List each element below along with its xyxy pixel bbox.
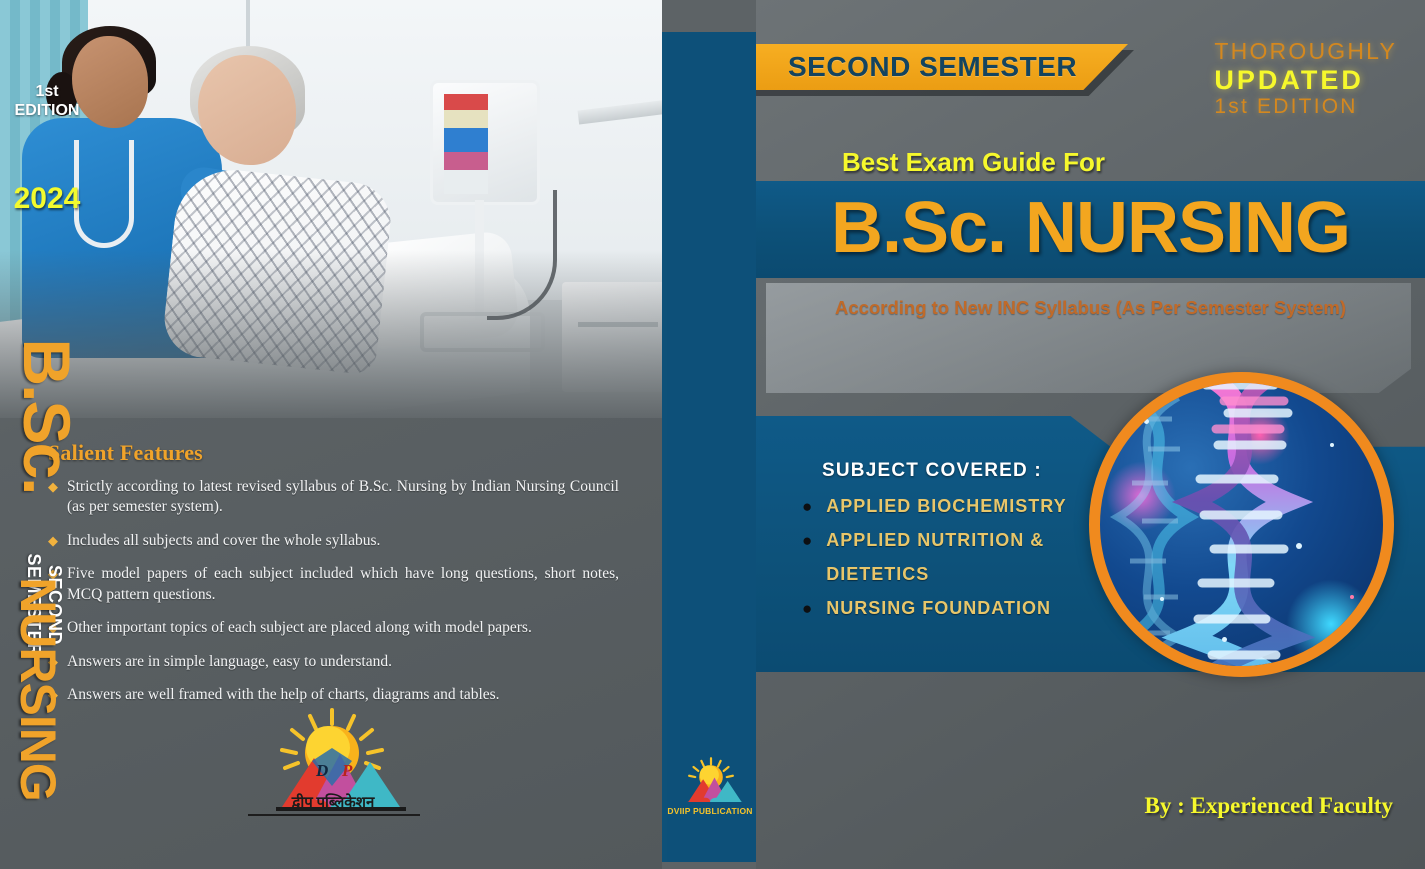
feature-text: Answers are well framed with the help of… [67, 685, 500, 705]
feature-item: ◆ Answers are in simple language, easy t… [48, 652, 638, 672]
book-spine [662, 0, 756, 869]
sparkle [1350, 595, 1354, 599]
feature-item: ◆ Answers are well framed with the help … [48, 685, 638, 705]
subject-list-item: ● APPLIED BIOCHEMISTRY [802, 492, 1132, 521]
syllabus-note: According to New INC Syllabus (As Per Se… [756, 297, 1425, 319]
spine-subtitle: NURSING [9, 539, 67, 839]
svg-text:P: P [341, 761, 353, 780]
dna-strand-primary [1158, 372, 1338, 677]
spine-background [667, 32, 756, 862]
monitor-screen [444, 94, 488, 194]
sparkle [1144, 419, 1149, 424]
spine-publisher-logo [676, 756, 746, 806]
feature-text: Five model papers of each subject includ… [67, 564, 619, 605]
sparkle [1296, 543, 1302, 549]
iv-pole [246, 0, 250, 48]
spine-edition-line1: 1st [0, 82, 94, 101]
book-cover-artwork: Salient Features ◆ Strictly according to… [0, 0, 1425, 869]
spine-edition: 1st EDITION [0, 82, 94, 120]
subject-label: NURSING FOUNDATION [826, 594, 1051, 623]
dna-helix-image [1089, 372, 1394, 677]
publisher-name-hindi: द्वीप पब्लिकेशन [250, 792, 416, 812]
feature-text: Answers are in simple language, easy to … [67, 652, 392, 672]
subject-list: ● APPLIED BIOCHEMISTRY ● APPLIED NUTRITI… [802, 492, 1132, 628]
thoroughly-label: THOROUGHLY [1214, 38, 1397, 65]
feature-text: Strictly according to latest revised syl… [67, 477, 619, 518]
hospital-photo [0, 0, 662, 418]
spine-title: B.Sc. [9, 281, 85, 551]
salient-features-title: Salient Features [48, 440, 638, 466]
updated-edition-block: THOROUGHLY UPDATED 1st EDITION [1214, 38, 1397, 119]
semester-banner: SECOND SEMESTER [756, 44, 1128, 90]
feature-text: Includes all subjects and cover the whol… [67, 531, 380, 551]
spine-year: 2024 [0, 182, 94, 216]
updated-label: UPDATED [1214, 65, 1397, 95]
sparkle [1222, 637, 1227, 642]
sparkle [1160, 597, 1164, 601]
subject-covered-title: SUBJECT COVERED : [822, 460, 1042, 482]
subject-label: APPLIED BIOCHEMISTRY [826, 492, 1066, 521]
publisher-logo-icon [676, 756, 746, 806]
feature-item: ◆ Includes all subjects and cover the wh… [48, 531, 638, 551]
first-edition-label: 1st EDITION [1214, 95, 1397, 119]
semester-banner-label: SECOND SEMESTER [756, 51, 1077, 83]
best-exam-guide-label: Best Exam Guide For [842, 147, 1105, 178]
bullet-icon: ● [802, 526, 812, 555]
subject-list-item: ● NURSING FOUNDATION [802, 594, 1132, 623]
subject-list-item-continuation: ● DIETETICS [802, 560, 1132, 589]
subject-label: APPLIED NUTRITION & [826, 526, 1044, 555]
byline: By : Experienced Faculty [1145, 793, 1394, 819]
bullet-icon: ● [802, 594, 812, 623]
spine-publisher-name: DVIIP PUBLICATION [666, 806, 754, 816]
feature-item: ◆ Five model papers of each subject incl… [48, 564, 638, 605]
svg-text:D: D [315, 761, 328, 780]
bullet-icon: ● [802, 492, 812, 521]
feature-item: ◆ Strictly according to latest revised s… [48, 477, 638, 518]
photo-fade-overlay [0, 250, 662, 418]
sparkle [1330, 443, 1334, 447]
spine-edition-line2: EDITION [0, 101, 94, 120]
page-title: B.Sc. NURSING [756, 187, 1425, 269]
subject-list-item: ● APPLIED NUTRITION & [802, 526, 1132, 555]
publisher-underline [248, 814, 420, 816]
subject-label: DIETETICS [826, 560, 929, 589]
feature-item: ◆ Other important topics of each subject… [48, 618, 638, 638]
feature-text: Other important topics of each subject a… [67, 618, 532, 638]
back-cover-panel: Salient Features ◆ Strictly according to… [0, 0, 662, 869]
salient-features-block: Salient Features ◆ Strictly according to… [48, 440, 638, 719]
